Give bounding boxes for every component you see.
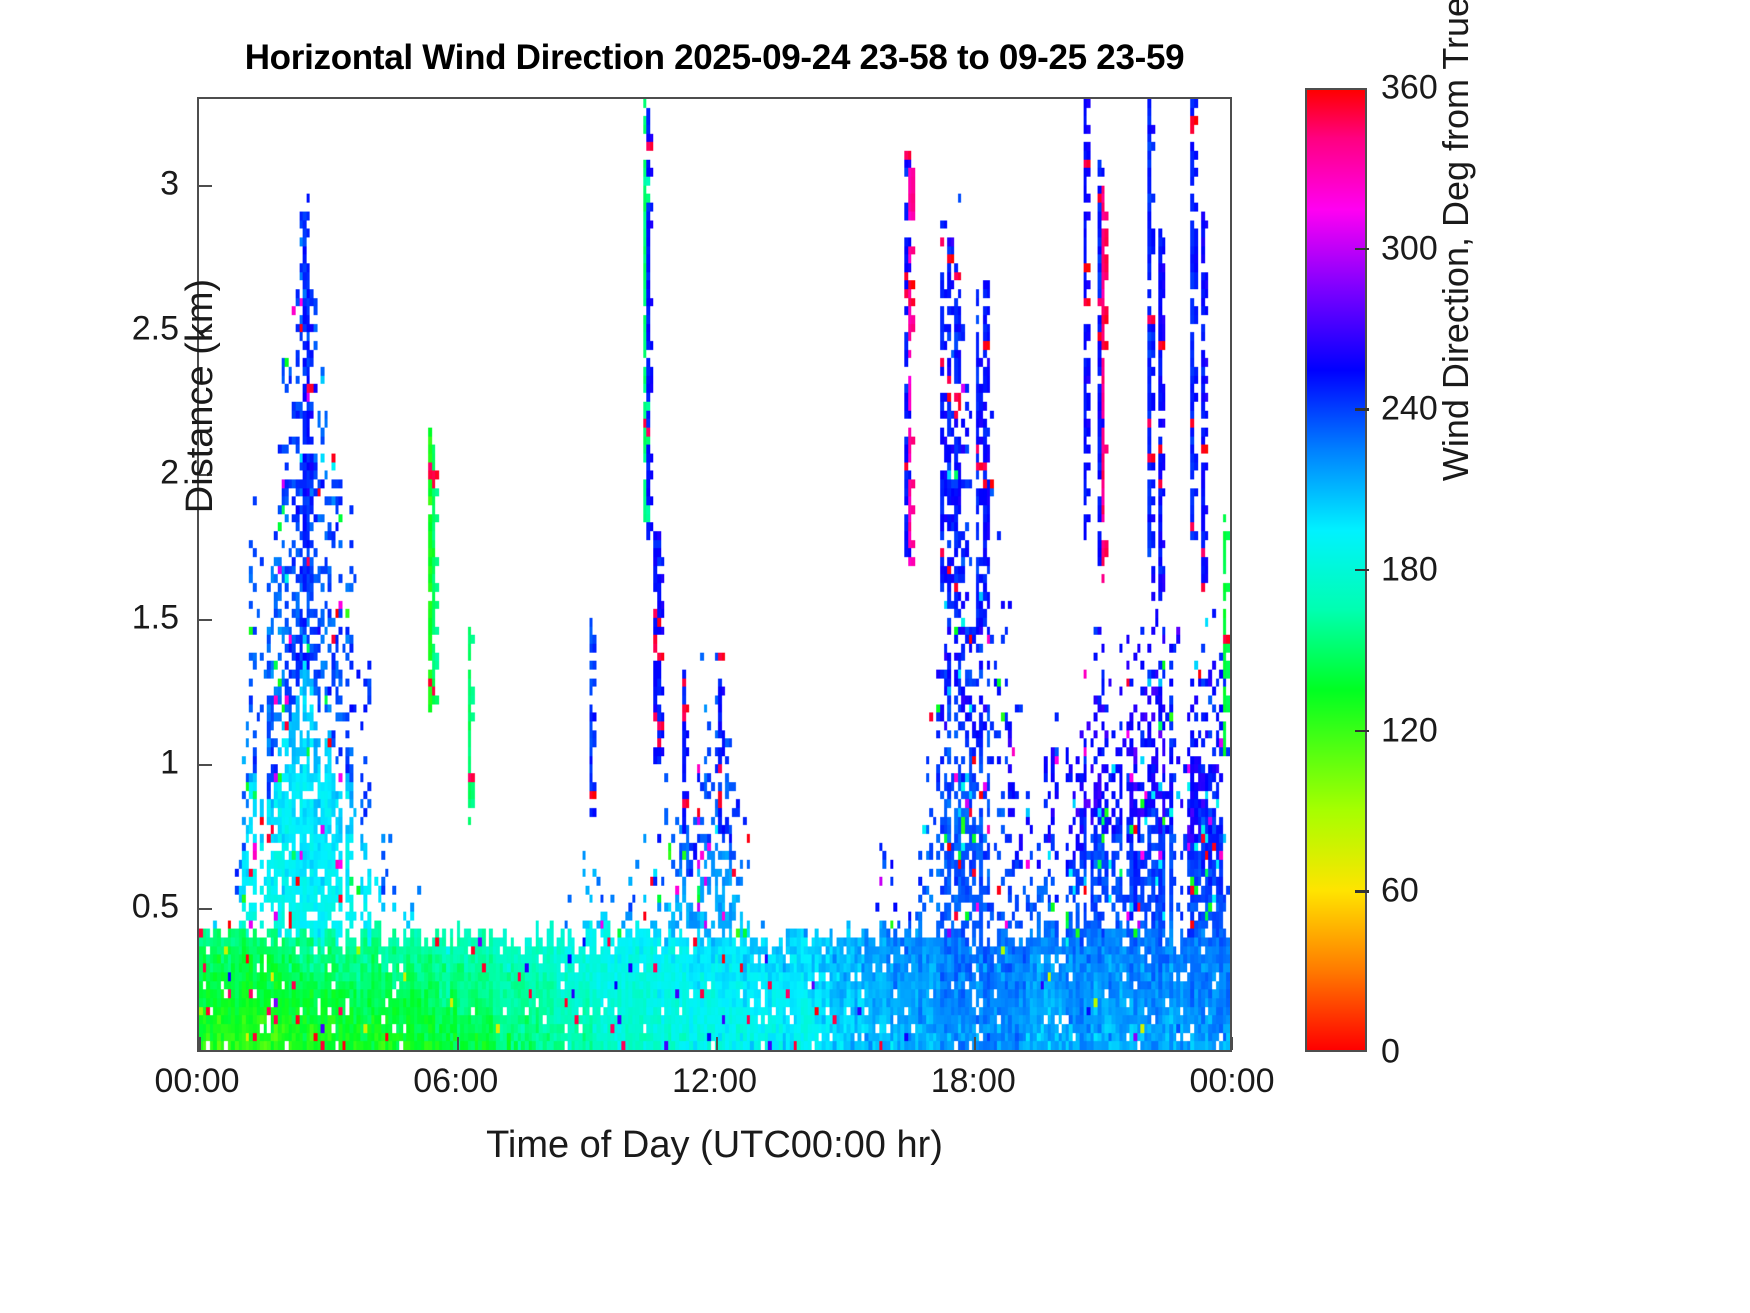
x-tick-mark <box>457 1037 459 1050</box>
colorbar-tick-label: 60 <box>1381 872 1419 911</box>
colorbar-tick-label: 120 <box>1381 711 1438 750</box>
page-title: Horizontal Wind Direction 2025-09-24 23-… <box>197 38 1232 78</box>
colorbar-tick-mark <box>1355 569 1369 571</box>
y-axis-title: Distance (km) <box>170 186 230 606</box>
plot-area <box>197 97 1232 1052</box>
y-tick-label: 1 <box>160 743 179 782</box>
x-tick-mark <box>1231 1037 1233 1050</box>
x-tick-mark <box>199 1037 201 1050</box>
colorbar-title: Wind Direction, Deg from True North <box>1426 0 1486 540</box>
colorbar-tick-mark <box>1355 890 1369 892</box>
colorbar-tick-mark <box>1355 730 1369 732</box>
y-tick-mark <box>199 619 212 621</box>
x-tick-mark <box>974 1037 976 1050</box>
x-tick-mark <box>716 1037 718 1050</box>
colorbar-tick-mark <box>1355 248 1369 250</box>
wind-direction-heatmap <box>199 99 1230 1050</box>
colorbar-tick-label: 180 <box>1381 551 1438 590</box>
figure-root: Horizontal Wind Direction 2025-09-24 23-… <box>0 0 1750 1313</box>
colorbar-title-text: Wind Direction, Deg from True North <box>1435 0 1477 481</box>
x-axis-title: Time of Day (UTC00:00 hr) <box>197 1124 1232 1167</box>
x-tick-label: 12:00 <box>672 1062 757 1101</box>
x-tick-label: 00:00 <box>154 1062 239 1101</box>
y-tick-mark <box>199 908 212 910</box>
x-tick-label: 06:00 <box>413 1062 498 1101</box>
x-tick-label: 00:00 <box>1189 1062 1274 1101</box>
y-tick-label: 0.5 <box>132 888 179 927</box>
y-axis-title-text: Distance (km) <box>179 279 222 513</box>
y-tick-mark <box>199 764 212 766</box>
colorbar-tick-label: 0 <box>1381 1033 1400 1072</box>
colorbar-tick-mark <box>1355 408 1369 410</box>
x-tick-label: 18:00 <box>931 1062 1016 1101</box>
